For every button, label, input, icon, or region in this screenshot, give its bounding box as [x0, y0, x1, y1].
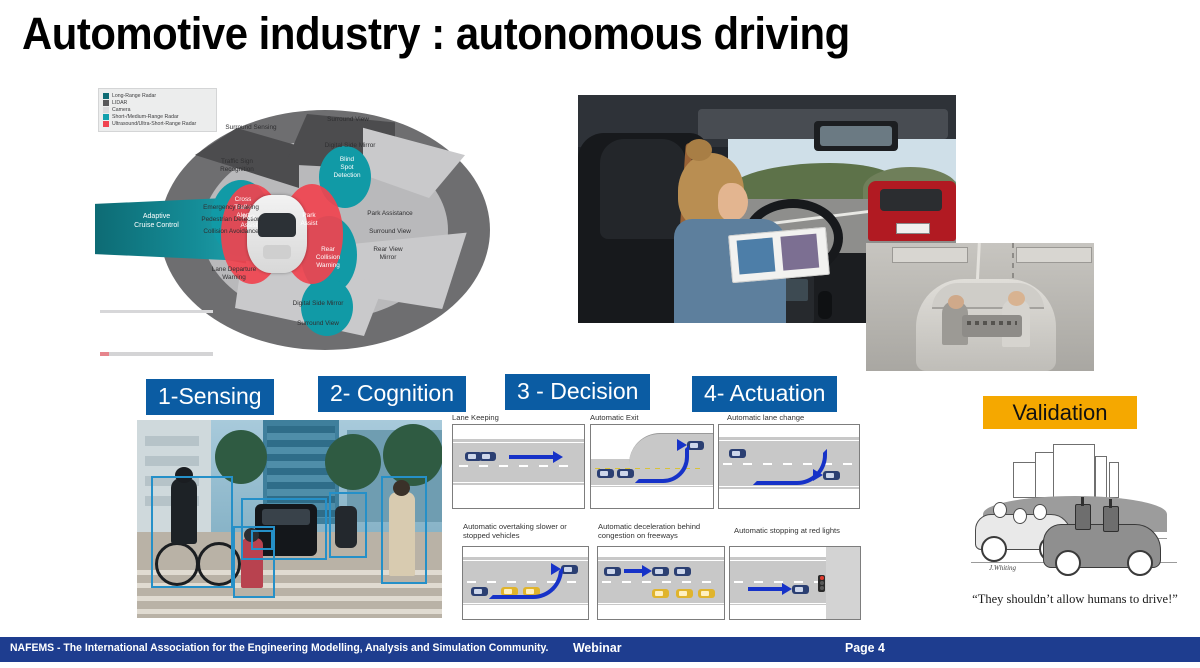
- panel-automatic-stopping-red-lights: [729, 546, 861, 620]
- slide-footer: NAFEMS - The International Association f…: [0, 637, 1200, 662]
- label-park-assist-rear: ParkAssist: [293, 212, 325, 228]
- license-plate: [896, 223, 930, 234]
- ego-car: [792, 585, 809, 594]
- lane-dashes: [734, 581, 822, 583]
- cartoon-building-4: [1095, 456, 1107, 498]
- panel-caption-lane-keeping: Lane Keeping: [452, 413, 572, 422]
- lane-dashes: [459, 465, 579, 467]
- panel-automatic-exit: [590, 424, 714, 509]
- road-edge-top: [453, 442, 584, 443]
- label-surround-view-top: Surround View: [317, 116, 379, 124]
- label-adaptive-cruise-control: Adaptive Cruise Control: [109, 212, 204, 230]
- traffic-light-green: [820, 586, 824, 590]
- panel-caption-automatic-deceleration: Automatic deceleration behind congestion…: [598, 522, 720, 541]
- legend-label-ultrasound: Ultrasound/Ultra-Short-Range Radar: [112, 121, 196, 127]
- label-digital-side-mirror-bottom: Digital Side Mirror: [281, 300, 355, 308]
- trajectory-arrow-line: [509, 455, 555, 459]
- ego-car: [604, 567, 621, 576]
- ego-car-after-overtake: [561, 565, 578, 574]
- panel-caption-automatic-stopping: Automatic stopping at red lights: [734, 526, 870, 535]
- cartoon-building-3: [1053, 444, 1095, 498]
- road-edge-top: [463, 560, 588, 561]
- road-surface: [453, 439, 584, 485]
- label-surround-view-bottom: Surround View: [287, 320, 349, 328]
- cartoon-robot-1: [1075, 504, 1091, 530]
- congestion-car-4: [676, 589, 693, 598]
- label-park-assistance: Park Assistance: [357, 210, 423, 218]
- seat-headrest: [600, 139, 686, 239]
- detection-box-child-face: [251, 530, 273, 550]
- section-label-actuation[interactable]: 4- Actuation: [692, 376, 837, 412]
- label-park-assist-front: ParkAssist: [233, 214, 265, 230]
- lead-car: [479, 452, 496, 461]
- section-label-cognition[interactable]: 2- Cognition: [318, 376, 466, 412]
- vintage-guardrail-left: [892, 247, 968, 263]
- gear-shifter: [818, 291, 832, 319]
- footer-event: Webinar: [573, 640, 622, 655]
- road-edge-top: [719, 440, 859, 441]
- validation-label[interactable]: Validation: [983, 396, 1137, 429]
- ego-car: [471, 587, 488, 596]
- traffic-light-amber: [820, 581, 824, 585]
- ego-car: [597, 469, 614, 478]
- magazine: [728, 227, 830, 283]
- cartoon-building-5: [1109, 462, 1119, 498]
- vintage-passenger-right-head: [1008, 291, 1025, 306]
- cartoon-car-b-wheel-rear: [1127, 550, 1153, 576]
- driver-face: [718, 183, 748, 221]
- panel-automatic-overtaking: [462, 546, 589, 620]
- road-edge-bottom: [730, 603, 826, 604]
- section-label-sensing[interactable]: 1-Sensing: [146, 379, 274, 415]
- cartoon-car-b-wheel-front: [1055, 550, 1081, 576]
- lane-change-arrow-head: [813, 469, 823, 481]
- slow-car: [729, 449, 746, 458]
- acc-line1: Adaptive: [143, 213, 170, 220]
- congestion-car-5: [698, 589, 715, 598]
- road-edge-bottom: [463, 603, 588, 604]
- slide-canvas: Automotive industry : autonomous driving…: [0, 0, 1200, 668]
- panel-automatic-deceleration: [597, 546, 725, 620]
- congestion-car-1: [652, 567, 669, 576]
- traffic-light-red: [820, 576, 824, 580]
- legend-label-long-range-radar: Long-Range Radar: [112, 93, 156, 99]
- sensor-coverage-diagram: Adaptive Cruise Control Surround Sensing…: [95, 88, 515, 373]
- legend-item: Long-Range Radar: [103, 93, 213, 99]
- diagram-source-note: [100, 352, 213, 356]
- cartoon-car-a-wheel-front: [981, 536, 1007, 562]
- legend-item: LIDAR: [103, 100, 213, 106]
- cartoon-human-1: [993, 502, 1007, 518]
- panel-caption-automatic-overtaking: Automatic overtaking slower or stopped v…: [463, 522, 581, 541]
- driver-hair-bun: [686, 139, 712, 161]
- label-surround-sensing: Surround Sensing: [213, 124, 289, 132]
- road-edge-top: [598, 560, 724, 561]
- congestion-car-2: [674, 567, 691, 576]
- cartoon-human-2: [1013, 508, 1027, 524]
- panel-lane-keeping: [452, 424, 585, 509]
- road-edge-bottom: [453, 482, 584, 483]
- section-label-decision[interactable]: 3 - Decision: [505, 374, 650, 410]
- cartoon-building-2: [1035, 452, 1055, 498]
- congestion-car-3: [652, 589, 669, 598]
- trajectory-arrow-head: [553, 451, 563, 463]
- panel-automatic-lane-change: [718, 424, 860, 509]
- vintage-passenger-left-head: [948, 295, 964, 309]
- tree-2: [325, 434, 381, 490]
- label-digital-side-mirror-top: Digital Side Mirror: [313, 142, 387, 150]
- detection-box-cyclist: [151, 476, 233, 588]
- acc-line2: Cruise Control: [134, 222, 179, 229]
- cartoon-signature: J.Whiting: [989, 564, 1016, 572]
- vintage-guardrail-right: [1016, 247, 1092, 263]
- cartoon-human-3: [1033, 504, 1047, 520]
- photo-street-object-detection: [137, 420, 442, 618]
- legend-label-camera: Camera: [112, 107, 130, 113]
- panel-caption-automatic-exit: Automatic Exit: [590, 413, 710, 422]
- label-lane-departure-warning: Lane DepartureWarning: [203, 266, 265, 282]
- detection-box-motorcyclist: [329, 492, 367, 558]
- ego-car-after-change: [823, 471, 840, 480]
- legend-label-lidar: LIDAR: [112, 100, 127, 106]
- footer-page-number: Page 4: [845, 640, 885, 655]
- road-edge-top: [730, 560, 826, 561]
- label-traffic-sign-recognition: Traffic SignRecognition: [207, 158, 267, 174]
- legend-item: Ultrasound/Ultra-Short-Range Radar: [103, 121, 213, 127]
- exit-arrow-head: [677, 439, 687, 451]
- diagram-divider: [100, 310, 213, 313]
- legend-item: Camera: [103, 107, 213, 113]
- exited-car: [687, 441, 704, 450]
- footer-bottom-margin: [0, 662, 1200, 668]
- road-edge-bottom: [598, 603, 724, 604]
- label-emergency-braking: Emergency Braking: [193, 204, 269, 212]
- label-rear-view-mirror: Rear ViewMirror: [359, 246, 417, 262]
- label-blind-spot-detection: BlindSpotDetection: [329, 156, 365, 180]
- legend-swatch-lidar: [103, 100, 109, 106]
- label-surround-view-right: Surround View: [357, 228, 423, 236]
- cartoon-building-1: [1013, 462, 1037, 498]
- page-title: Automotive industry : autonomous driving: [22, 8, 850, 60]
- detection-box-pedestrian: [381, 476, 427, 584]
- cartoon-robot-2: [1103, 506, 1119, 532]
- overtake-arrow-head: [551, 563, 561, 575]
- cross-street: [826, 547, 860, 619]
- vintage-control-panel: [962, 315, 1022, 337]
- road-edge-bottom: [591, 485, 713, 486]
- lead-car: [617, 469, 634, 478]
- legend-item: Short-/Medium-Range Radar: [103, 114, 213, 120]
- photo-vintage-concept-car: [866, 243, 1094, 371]
- legend-swatch-camera: [103, 107, 109, 113]
- stop-arrow-line: [748, 587, 784, 591]
- stop-arrow-head: [782, 583, 792, 595]
- panel-caption-automatic-lane-change: Automatic lane change: [727, 413, 847, 422]
- label-rear-collision-warning: RearCollisionWarning: [307, 246, 349, 270]
- deceleration-arrow-head: [642, 565, 652, 577]
- legend-swatch-short-medium-range-radar: [103, 114, 109, 120]
- lane-dashes: [602, 581, 720, 583]
- legend-swatch-ultrasound: [103, 121, 109, 127]
- validation-cartoon: J.Whiting: [967, 440, 1183, 580]
- legend-label-short-medium-range-radar: Short-/Medium-Range Radar: [112, 114, 179, 120]
- sensor-legend: Long-Range Radar LIDAR Camera Short-/Med…: [98, 88, 217, 132]
- cartoon-caption: “They shouldn’t allow humans to drive!”: [967, 592, 1183, 607]
- deceleration-arrow-line: [624, 569, 644, 573]
- road-edge-bottom: [719, 486, 859, 487]
- legend-swatch-long-range-radar: [103, 93, 109, 99]
- rear-view-mirror: [814, 121, 898, 151]
- traffic-light: [818, 575, 825, 592]
- footer-organization: NAFEMS - The International Association f…: [10, 642, 548, 654]
